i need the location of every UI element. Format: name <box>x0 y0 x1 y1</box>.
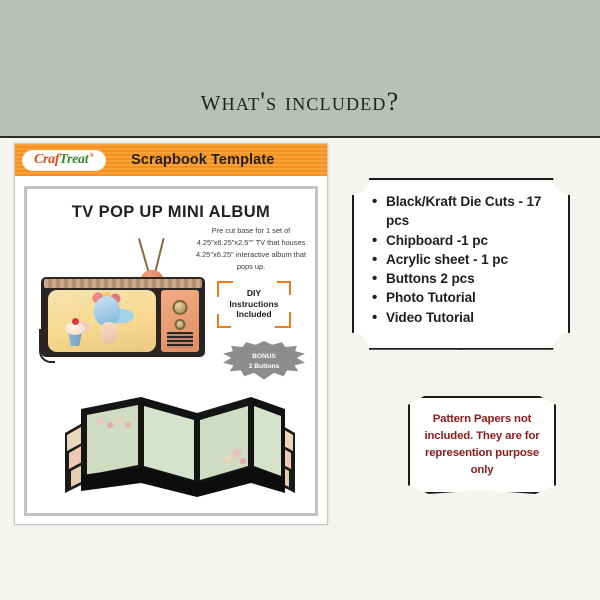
tv-power-cord <box>39 329 55 363</box>
antenna-icon <box>129 237 173 277</box>
included-items-list: Black/Kraft Die Cuts - 17 pcs Chipboard … <box>372 192 558 327</box>
bonus-badge-line1: BONUS <box>252 352 276 362</box>
product-title: TV POP UP MINI ALBUM <box>27 203 315 222</box>
logo-text-treat: Treat <box>59 153 88 167</box>
pattern-papers-note-text: Pattern Papers not included. They are fo… <box>418 411 546 479</box>
product-description: Pre cut base for 1 set of 4.25"x6.25"x2.… <box>195 225 307 272</box>
included-items-box: Black/Kraft Die Cuts - 17 pcs Chipboard … <box>352 178 570 350</box>
tv-knob-small <box>175 319 186 330</box>
product-card: CrafTreat® Scrapbook Template TV POP UP … <box>14 143 328 525</box>
list-item: Buttons 2 pcs <box>372 269 558 288</box>
tv-screen <box>48 290 156 352</box>
tv-body <box>41 277 205 357</box>
diy-badge-label: DIY Instructions Included <box>229 288 278 319</box>
list-item: Video Tutorial <box>372 308 558 327</box>
card-header-title: Scrapbook Template <box>105 152 301 168</box>
page-title: What's Included? <box>201 84 400 136</box>
album-illustration <box>45 375 315 503</box>
registered-mark-icon: ® <box>89 153 93 159</box>
corner-bracket-icon <box>217 314 231 328</box>
list-item: Acrylic sheet - 1 pc <box>372 250 558 269</box>
tv-top-strip <box>44 279 202 288</box>
corner-bracket-icon <box>277 281 291 295</box>
ice-cream-sundae-icon <box>64 316 86 346</box>
tv-knob-large <box>173 300 188 315</box>
card-inner-panel: TV POP UP MINI ALBUM Pre cut base for 1 … <box>24 186 318 516</box>
card-header: CrafTreat® Scrapbook Template <box>15 144 327 176</box>
logo-text-craf: Craf <box>34 153 59 167</box>
tv-control-panel <box>161 290 199 352</box>
header-band: What's Included? <box>0 0 600 138</box>
bonus-badge-line2: 2 Buttons <box>249 362 279 372</box>
tv-illustration <box>33 237 211 359</box>
bunny-figure <box>100 322 118 344</box>
list-item: Photo Tutorial <box>372 288 558 307</box>
pattern-papers-note-box: Pattern Papers not included. They are fo… <box>408 396 556 494</box>
tv-speaker-grille <box>167 332 193 348</box>
list-item: Black/Kraft Die Cuts - 17 pcs <box>372 192 558 231</box>
craftreat-logo: CrafTreat® <box>23 151 105 170</box>
diy-instructions-badge: DIY Instructions Included <box>217 281 291 328</box>
list-item: Chipboard -1 pc <box>372 231 558 250</box>
cherry-icon <box>72 318 79 325</box>
